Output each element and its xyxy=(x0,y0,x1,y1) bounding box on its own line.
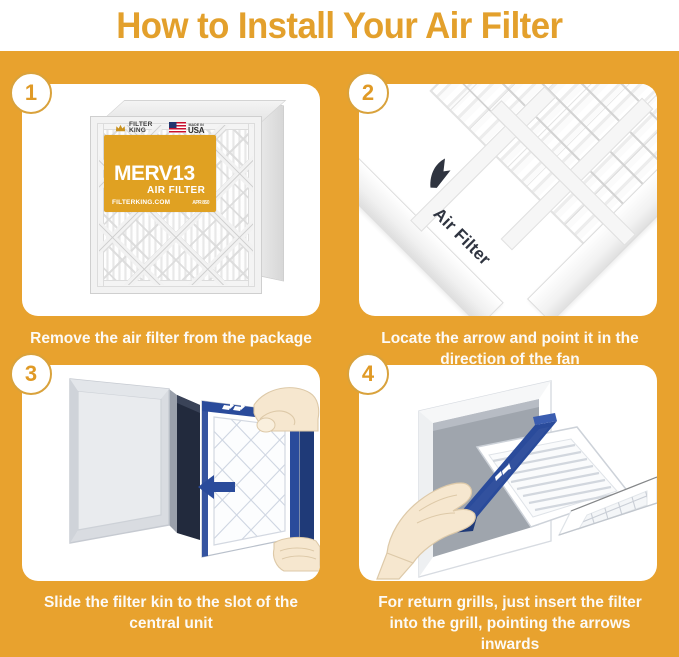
step-2-caption: Locate the arrow and point it in the dir… xyxy=(365,328,655,370)
brand-line-2: KING xyxy=(129,128,152,134)
step-3-caption: Slide the filter kin to the slot of the … xyxy=(30,592,312,634)
central-unit-slot xyxy=(70,379,200,543)
us-flag-icon xyxy=(169,122,186,133)
slide-filter-into-slot-illustration xyxy=(22,365,320,581)
merv13-label: MERV13 AIR FILTER FILTERKING.COM APR 850 xyxy=(104,135,216,212)
air-filter-corner-closeup: Air Filter xyxy=(359,84,657,316)
hand-top xyxy=(254,388,319,432)
filter-king-logo: FILTER KING xyxy=(115,122,152,134)
steps-board: MERV13 AIR FILTER FILTERKING.COM APR 850 xyxy=(0,51,679,657)
step-2-image-area: Air Filter xyxy=(359,84,657,316)
step-4-caption: For return grills, just insert the filte… xyxy=(365,592,655,655)
infographic-page: How to Install Your Air Filter xyxy=(0,0,679,657)
merv-subtitle-text: AIR FILTER xyxy=(147,185,205,196)
made-in-usa-badge: MADE IN USA xyxy=(169,122,204,133)
step-4-badge: 4 xyxy=(347,353,389,395)
title-bar: How to Install Your Air Filter xyxy=(0,0,679,51)
step-3-badge: 3 xyxy=(10,353,52,395)
step-4-card: 4 xyxy=(359,365,657,581)
step-2-badge: 2 xyxy=(347,72,389,114)
merv-website-text: FILTERKING.COM xyxy=(112,199,170,206)
filter-front-face: MERV13 AIR FILTER FILTERKING.COM APR 850 xyxy=(90,116,262,294)
step-3-image-area xyxy=(22,365,320,581)
step-4-image-area xyxy=(359,365,657,581)
step-1-card: MERV13 AIR FILTER FILTERKING.COM APR 850 xyxy=(22,84,320,316)
insert-filter-into-return-grill-illustration xyxy=(359,365,657,581)
air-filter-product-photo: MERV13 AIR FILTER FILTERKING.COM APR 850 xyxy=(90,100,286,298)
step-2-card: Air Filter 2 xyxy=(359,84,657,316)
crown-icon xyxy=(115,123,126,134)
page-title: How to Install Your Air Filter xyxy=(116,5,562,47)
merv-apr-text: APR 850 xyxy=(192,200,209,206)
step-1-badge: 1 xyxy=(10,72,52,114)
hand-bottom xyxy=(273,537,320,571)
step-1-caption: Remove the air filter from the package xyxy=(22,328,320,349)
usa-text: USA xyxy=(188,128,204,133)
merv-rating-text: MERV13 xyxy=(114,162,195,186)
step-1-image-area: MERV13 AIR FILTER FILTERKING.COM APR 850 xyxy=(22,84,320,316)
step-3-card: 3 xyxy=(22,365,320,581)
